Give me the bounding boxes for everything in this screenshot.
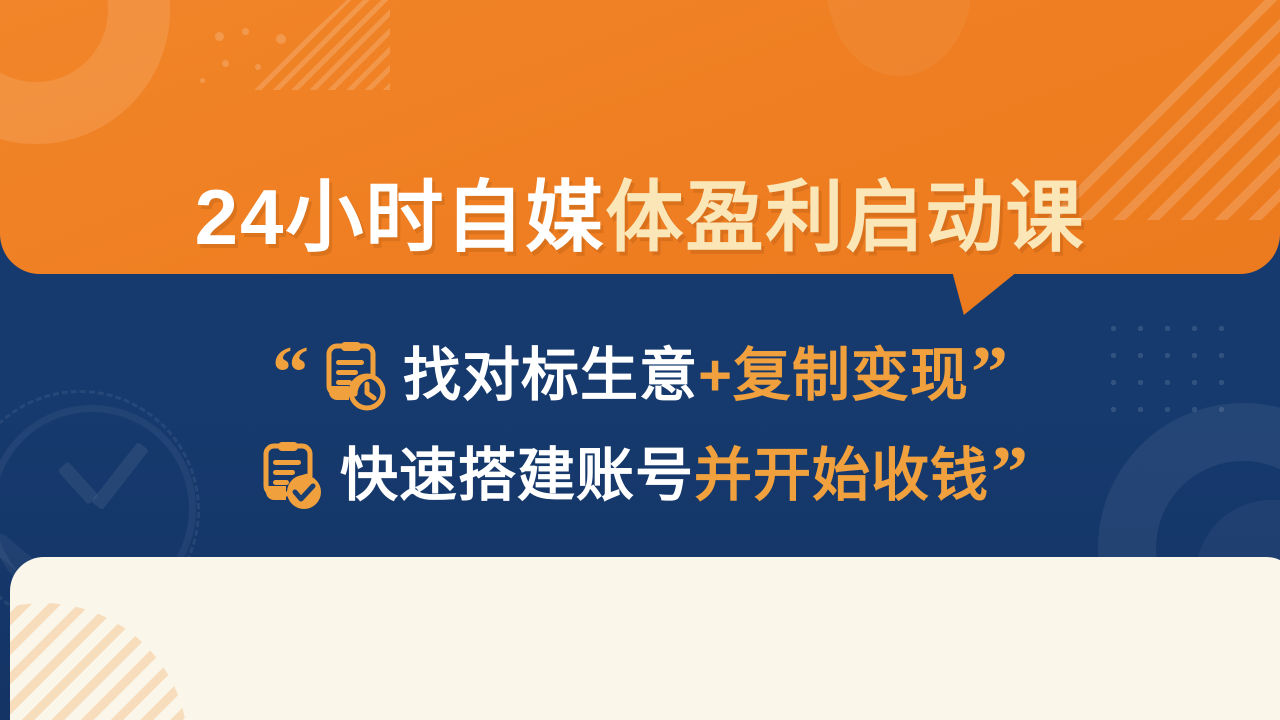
page-title: 24小时自媒体盈利启动课: [0, 178, 1280, 256]
page-title-part-white: 24小时自媒: [195, 173, 606, 261]
striped-circle-decoration: [10, 603, 188, 720]
slogan-line-1: “ 找对标生意+复制变现: [0, 326, 1280, 426]
quote-close-mark: ”: [991, 436, 1028, 510]
slogan-block: “ 找对标生意+复制变现: [0, 326, 1280, 526]
ellipse-decoration: [826, 0, 972, 76]
page-title-part-cream: 体盈利启动课: [605, 173, 1085, 261]
diagonal-stripes-left-decoration: [250, 0, 390, 90]
clipboard-clock-icon: [315, 340, 387, 412]
slogan-line-2-accent: 并开始收钱: [694, 443, 989, 508]
slogan-line-1-text: 找对标生意+复制变现: [403, 347, 969, 405]
slogan-line-2-text: 快速搭建账号并开始收钱: [340, 447, 989, 505]
slogan-line-1-accent: +复制变现: [698, 343, 969, 408]
quote-open-mark: “: [272, 336, 309, 410]
dot-decoration: [215, 32, 224, 41]
dot-decoration: [222, 60, 229, 67]
quote-close-mark: ”: [971, 336, 1008, 410]
dot-decoration: [242, 28, 249, 35]
donut-circle-icon: [0, 0, 170, 144]
slogan-line-1-plain: 找对标生意: [403, 343, 698, 408]
bottom-content-panel: [10, 557, 1280, 720]
slogan-line-2: 快速搭建账号并开始收钱 ”: [0, 426, 1280, 526]
slogan-line-2-plain: 快速搭建账号: [340, 443, 694, 508]
clipboard-check-icon: [252, 440, 324, 512]
dot-decoration: [200, 78, 205, 83]
promo-poster: 24小时自媒体盈利启动课 “: [0, 0, 1280, 720]
dot-decoration: [255, 64, 261, 70]
dot-decoration: [276, 34, 286, 44]
